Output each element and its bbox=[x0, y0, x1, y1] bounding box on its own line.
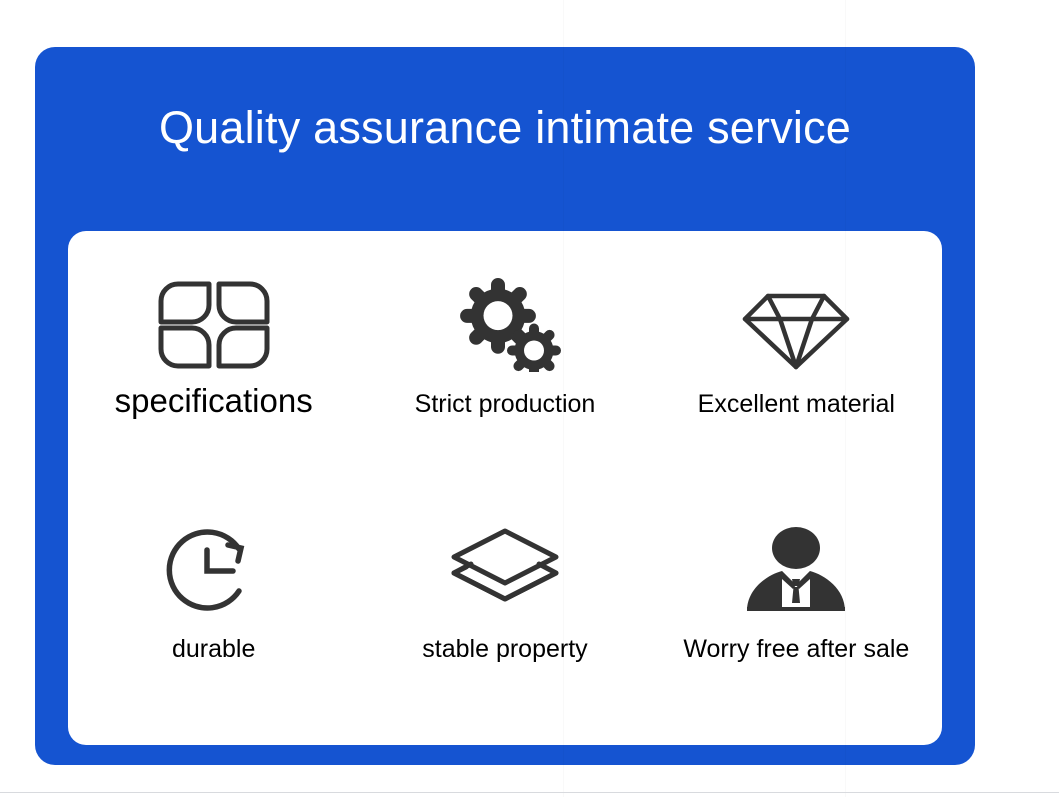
feature-card: specifications S bbox=[68, 231, 942, 745]
businessman-support-icon bbox=[736, 522, 856, 618]
blue-feature-panel: Quality assurance intimate service speci… bbox=[35, 47, 975, 765]
render-seam bbox=[845, 0, 846, 797]
clock-rotate-icon bbox=[154, 522, 274, 618]
feature-item-worry-free-after-sale[interactable]: Worry free after sale bbox=[651, 488, 942, 745]
gears-icon bbox=[445, 277, 565, 373]
bottom-divider bbox=[0, 792, 1059, 793]
feature-item-specifications[interactable]: specifications bbox=[68, 231, 359, 488]
feature-label: Worry free after sale bbox=[683, 634, 909, 664]
layers-stack-icon bbox=[445, 522, 565, 618]
page-title: Quality assurance intimate service bbox=[35, 102, 975, 154]
feature-item-durable[interactable]: durable bbox=[68, 488, 359, 745]
diamond-icon bbox=[736, 277, 856, 373]
feature-label: specifications bbox=[115, 383, 313, 419]
render-seam bbox=[563, 0, 564, 797]
four-panel-grid-icon bbox=[154, 277, 274, 373]
feature-label: durable bbox=[172, 634, 255, 664]
feature-item-stable-property[interactable]: stable property bbox=[359, 488, 650, 745]
feature-label: Strict production bbox=[415, 389, 596, 419]
feature-label: Excellent material bbox=[698, 389, 895, 419]
feature-item-excellent-material[interactable]: Excellent material bbox=[651, 231, 942, 488]
feature-grid: specifications S bbox=[68, 231, 942, 745]
feature-item-strict-production[interactable]: Strict production bbox=[359, 231, 650, 488]
promo-banner: Quality assurance intimate service speci… bbox=[0, 0, 1059, 797]
